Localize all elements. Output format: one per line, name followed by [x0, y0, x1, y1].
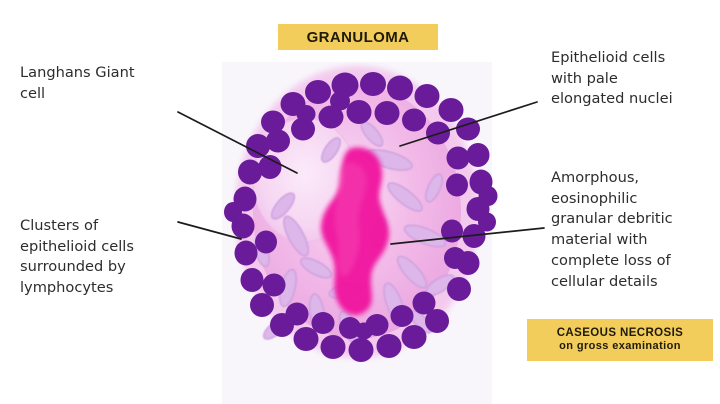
caseous-necrosis-line2: on gross examination: [559, 340, 681, 354]
label-amorphous-granular-debris: Amorphous, eosinophilic granular debriti…: [551, 168, 719, 292]
label-langhans-giant-cell: Langhans Giant cell: [20, 63, 200, 104]
figure-canvas: GRANULOMA Langhans Giant cell Clusters o…: [0, 0, 720, 404]
title-banner-label: GRANULOMA: [307, 29, 410, 46]
title-banner: GRANULOMA: [278, 24, 438, 50]
caseous-necrosis-banner: CASEOUS NECROSIS on gross examination: [527, 319, 713, 361]
label-clusters-epithelioid-cells: Clusters of epithelioid cells surrounded…: [20, 216, 210, 299]
label-epithelioid-cells-nuclei: Epithelioid cells with pale elongated nu…: [551, 48, 717, 110]
caseous-necrosis-line1: CASEOUS NECROSIS: [557, 326, 684, 340]
